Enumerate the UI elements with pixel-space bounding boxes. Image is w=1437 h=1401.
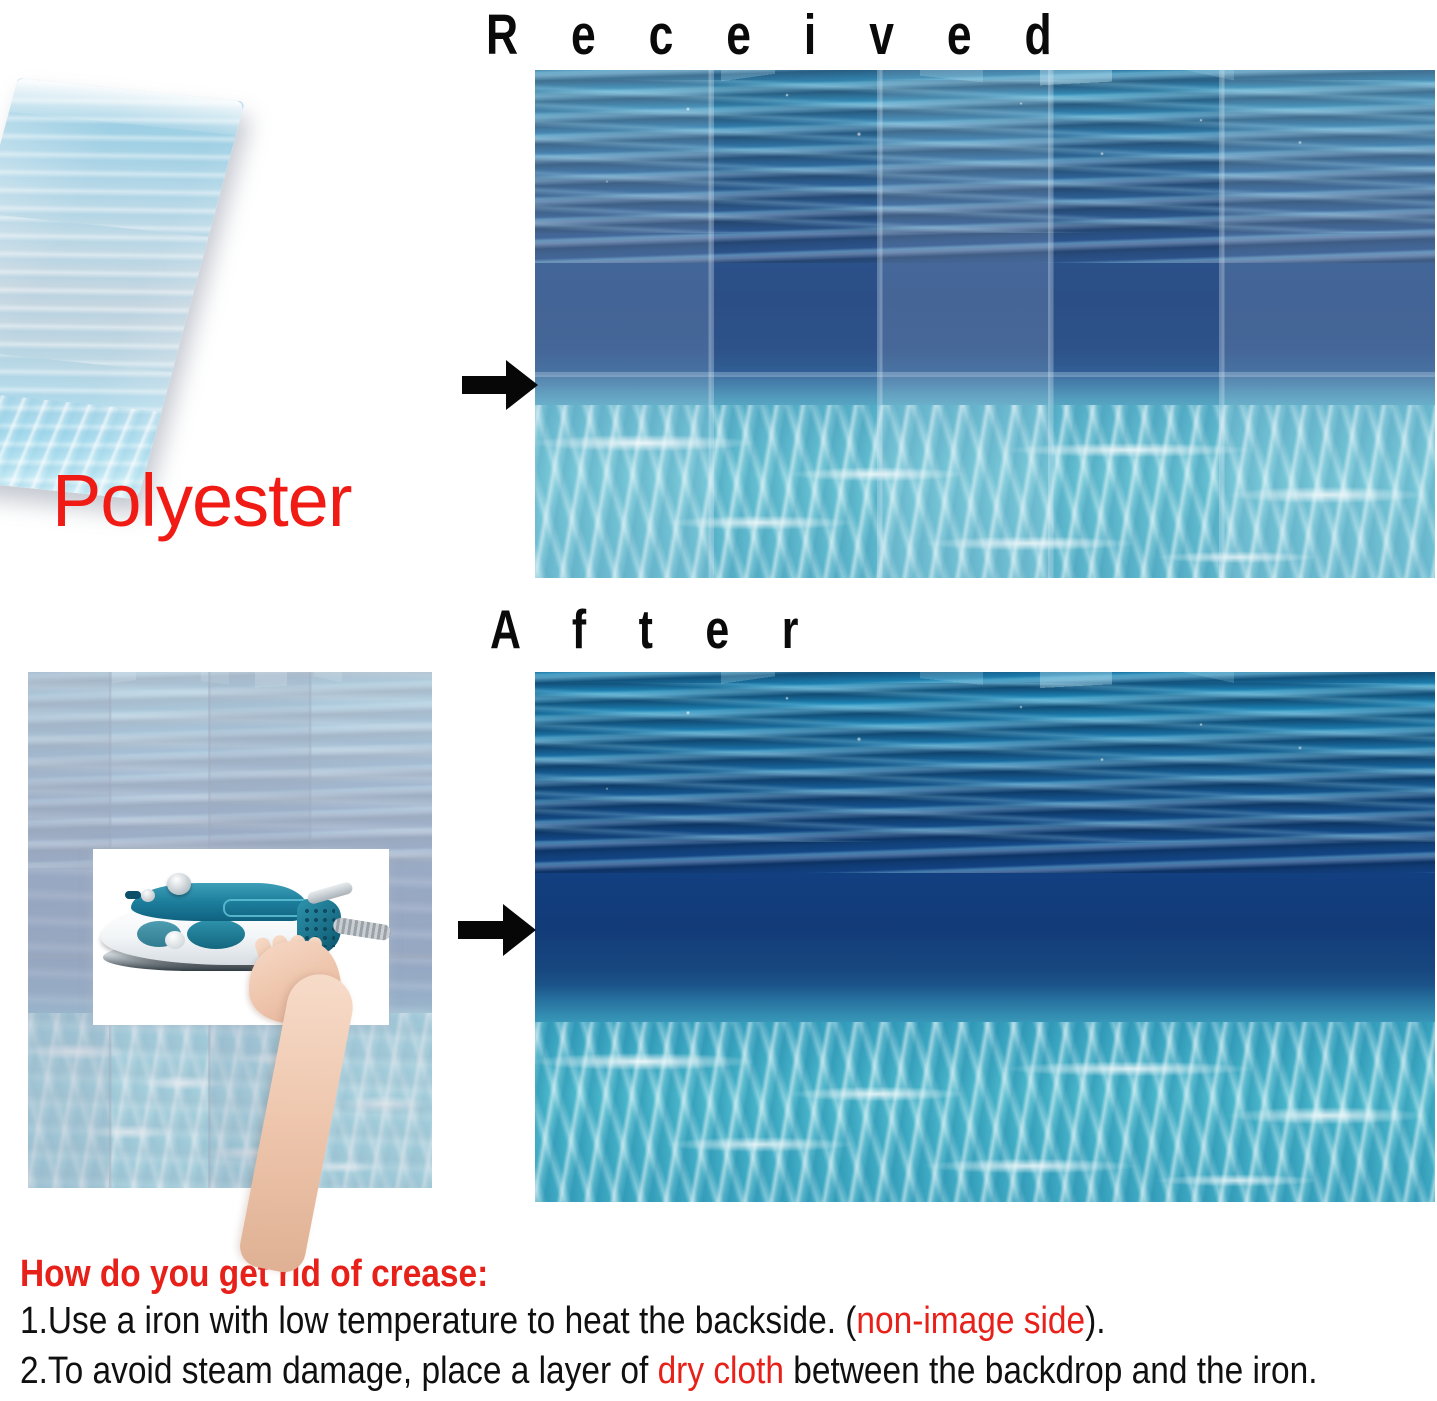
after-backdrop-photo: [535, 672, 1435, 1202]
section-heading-received: R e c e i v e d: [486, 2, 1072, 68]
polyester-fabric-swatch-image: [18, 78, 368, 498]
seabed-fade: [535, 985, 1435, 1022]
instruction-step-2-highlight: dry cloth: [658, 1350, 784, 1392]
iron-illustration: [101, 875, 333, 967]
fabric-sheet: [0, 78, 245, 499]
iron-handle: [131, 883, 307, 921]
iron-power-cord: [332, 917, 392, 942]
steam-iron-photo: [93, 849, 389, 1025]
iron-steam-button: [141, 889, 155, 902]
instruction-step-1: 1.Use a iron with low temperature to hea…: [20, 1299, 1263, 1345]
sandy-seabed-caustics: [535, 1022, 1435, 1202]
sandy-seabed-caustics: [535, 405, 1435, 578]
air-bubbles: [535, 70, 1435, 349]
instructions-heading: How do you get rid of crease:: [20, 1254, 1263, 1295]
instruction-step-1-highlight: non-image side: [856, 1300, 1085, 1342]
polyester-material-label: Polyester: [52, 458, 351, 543]
received-backdrop-photo: [535, 70, 1435, 578]
instruction-step-2-part-b: between the backdrop and the iron.: [784, 1350, 1318, 1392]
section-heading-after: A f t e r: [490, 597, 819, 661]
arrow-right-icon: [462, 358, 538, 417]
iron-knob: [167, 873, 191, 895]
instructions-block: How do you get rid of crease: 1.Use a ir…: [20, 1254, 1432, 1394]
iron-vent: [125, 891, 141, 899]
instruction-step-1-part-a: 1.Use a iron with low temperature to hea…: [20, 1300, 856, 1342]
air-bubbles: [535, 672, 1435, 964]
instruction-step-2-part-a: 2.To avoid steam damage, place a layer o…: [20, 1350, 658, 1392]
arrow-right-icon: [458, 902, 536, 963]
iron-temperature-dial: [165, 931, 185, 949]
instruction-step-2: 2.To avoid steam damage, place a layer o…: [20, 1349, 1263, 1395]
seabed-fade: [535, 370, 1435, 406]
instruction-step-1-part-b: ).: [1085, 1300, 1105, 1342]
iron-water-tank: [187, 919, 245, 949]
product-instruction-graphic: R e c e i v e d A f t e r Polyester: [0, 0, 1437, 1401]
